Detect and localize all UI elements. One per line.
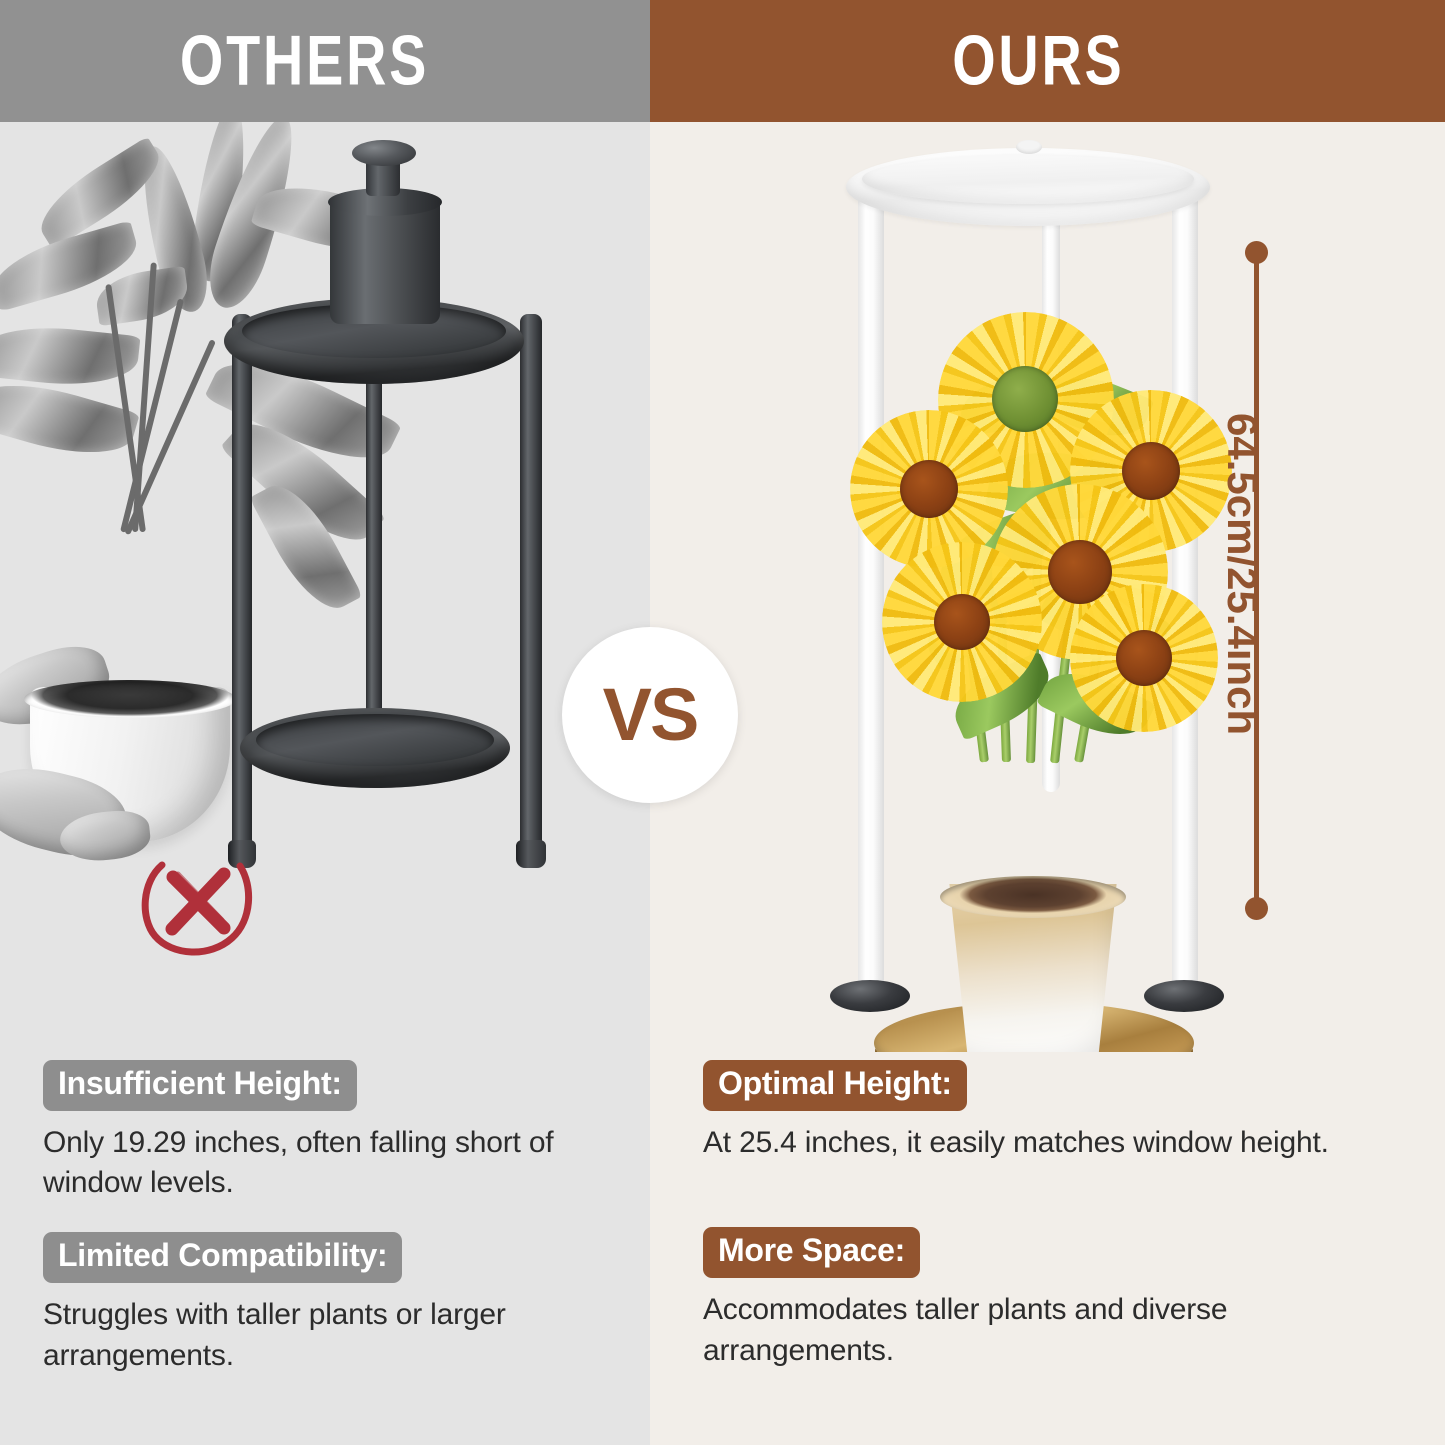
stand-lower-tray-inner (256, 714, 494, 766)
x-mark-icon (140, 844, 256, 960)
feature-block: More Space: Accommodates taller plants a… (703, 1227, 1403, 1371)
feature-tag: Limited Compatibility: (43, 1232, 402, 1283)
sunflower-center (992, 366, 1058, 432)
feature-tag: More Space: (703, 1227, 920, 1278)
sunflower-center (1122, 442, 1180, 500)
dimension-label: 64.5cm/25.4inch (1218, 413, 1266, 735)
pot-soil-surface (940, 876, 1126, 918)
white-stand-top-tray-inner (862, 154, 1194, 204)
feature-description: Accommodates taller plants and diverse a… (703, 1290, 1403, 1372)
others-feature-list: Insufficient Height: Only 19.29 inches, … (43, 1060, 633, 1403)
pot-soil-rim (24, 680, 236, 718)
feature-tag: Optimal Height: (703, 1060, 967, 1111)
stand-leg-right (520, 314, 542, 852)
urn-body (330, 198, 440, 324)
sunflower-center (1048, 540, 1112, 604)
feature-block: Limited Compatibility: Struggles with ta… (43, 1232, 633, 1376)
ours-product-photo (650, 122, 1445, 1052)
vs-label: VS (603, 678, 698, 752)
comparison-infographic: OTHERS OURS (0, 0, 1445, 1445)
urn-knob (352, 140, 416, 166)
feature-block: Insufficient Height: Only 19.29 inches, … (43, 1060, 633, 1204)
others-header-title: OTHERS (180, 26, 429, 97)
stand-foot-right (1144, 980, 1224, 1012)
feature-description: Only 19.29 inches, often falling short o… (43, 1123, 633, 1205)
sunflower-center (1116, 630, 1172, 686)
ours-feature-list: Optimal Height: At 25.4 inches, it easil… (703, 1060, 1403, 1399)
feature-block: Optimal Height: At 25.4 inches, it easil… (703, 1060, 1403, 1163)
white-stand-leg-right (1172, 170, 1198, 1000)
feature-tag: Insufficient Height: (43, 1060, 357, 1111)
feature-description: At 25.4 inches, it easily matches window… (703, 1123, 1403, 1164)
feature-description: Struggles with taller plants or larger a… (43, 1295, 633, 1377)
sunflower-center (900, 460, 958, 518)
stand-foot-right (516, 840, 546, 868)
white-stand-center-knob (1016, 140, 1042, 154)
stand-foot-left (830, 980, 910, 1012)
ours-header-bar: OURS (650, 0, 1445, 122)
dimension-endpoint-bottom (1245, 897, 1268, 920)
stand-leg-left (232, 314, 252, 852)
ours-header-title: OURS (952, 26, 1124, 97)
vs-badge: VS (562, 627, 738, 803)
sunflower-center (934, 594, 990, 650)
white-stand-leg-left (858, 170, 884, 1000)
others-product-photo (0, 122, 650, 1052)
others-header-bar: OTHERS (0, 0, 650, 122)
